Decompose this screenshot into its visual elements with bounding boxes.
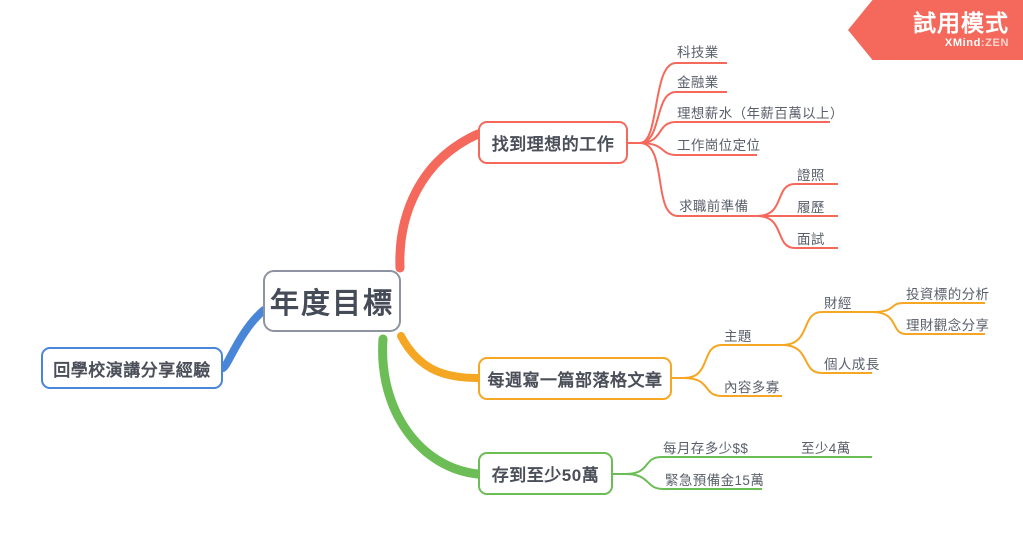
wire-blog-to-topic xyxy=(672,345,782,378)
leaf-salary[interactable]: 理想薪水（年薪百萬以上） xyxy=(677,102,844,122)
leaf-monthly-saving-label: 每月存多少$$ xyxy=(663,441,748,456)
leaf-resume-label: 履歷 xyxy=(797,200,825,215)
leaf-content-length[interactable]: 內容多寡 xyxy=(724,376,780,396)
leaf-resume[interactable]: 履歷 xyxy=(797,196,825,216)
leaf-personal-growth[interactable]: 個人成長 xyxy=(824,353,880,373)
root-node-label: 年度目標 xyxy=(270,280,394,322)
brand-name: XMind xyxy=(945,37,981,49)
leaf-topic[interactable]: 主題 xyxy=(724,325,752,345)
leaf-position-label: 工作崗位定位 xyxy=(677,138,760,153)
branch-node-saving[interactable]: 存到至少50萬 xyxy=(478,452,613,495)
leaf-emergency-fund[interactable]: 緊急預備金15萬 xyxy=(665,469,764,489)
leaf-cert-label: 證照 xyxy=(797,168,825,183)
leaf-personal-growth-label: 個人成長 xyxy=(824,357,880,372)
leaf-tech[interactable]: 科技業 xyxy=(677,41,719,61)
wire-finance-to-analysis xyxy=(872,303,985,312)
leaf-investment-analysis[interactable]: 投資標的分析 xyxy=(906,283,989,303)
branch-node-speech[interactable]: 回學校演講分享經驗 xyxy=(41,347,223,389)
wire-root-to-job xyxy=(400,134,478,268)
wire-root-to-blog xyxy=(401,336,478,378)
leaf-topic-label: 主題 xyxy=(724,329,752,344)
brand-logo: XMind:ZEN xyxy=(945,37,1009,49)
branch-node-speech-label: 回學校演講分享經驗 xyxy=(53,356,211,381)
root-node[interactable]: 年度目標 xyxy=(263,270,401,332)
leaf-interview[interactable]: 面試 xyxy=(797,228,825,248)
leaf-finance-industry-label: 金融業 xyxy=(677,75,719,90)
leaf-monthly-amount-label: 至少4萬 xyxy=(801,441,851,456)
leaf-finance-concepts-label: 理財觀念分享 xyxy=(906,318,989,333)
leaf-interview-label: 面試 xyxy=(797,232,825,247)
leaf-monthly-saving[interactable]: 每月存多少$$ xyxy=(663,437,748,457)
leaf-emergency-fund-label: 緊急預備金15萬 xyxy=(665,473,764,488)
branch-node-job-label: 找到理想的工作 xyxy=(492,130,615,155)
leaf-position[interactable]: 工作崗位定位 xyxy=(677,134,760,154)
leaf-salary-label: 理想薪水（年薪百萬以上） xyxy=(677,106,844,121)
trial-mode-title: 試用模式 xyxy=(913,11,1009,35)
mindmap-canvas[interactable]: 年度目標 找到理想的工作 每週寫一篇部落格文章 存到至少50萬 回學校演講分享經… xyxy=(0,0,1023,538)
leaf-prep[interactable]: 求職前準備 xyxy=(679,195,749,215)
brand-suffix: :ZEN xyxy=(981,37,1009,49)
wire-root-to-speech xyxy=(223,310,264,368)
trial-mode-badge[interactable]: 試用模式 XMind:ZEN xyxy=(848,0,1023,60)
branch-node-blog-label: 每週寫一篇部落格文章 xyxy=(488,366,663,391)
branch-node-blog[interactable]: 每週寫一篇部落格文章 xyxy=(478,357,672,400)
leaf-content-length-label: 內容多寡 xyxy=(724,380,780,395)
leaf-prep-label: 求職前準備 xyxy=(679,199,749,214)
leaf-finance-topic-label: 財經 xyxy=(824,296,852,311)
wire-topic-to-finance xyxy=(782,312,872,345)
leaf-tech-label: 科技業 xyxy=(677,45,719,60)
leaf-cert[interactable]: 證照 xyxy=(797,164,825,184)
branch-node-saving-label: 存到至少50萬 xyxy=(492,461,599,486)
wire-root-to-saving xyxy=(383,339,478,474)
branch-node-job[interactable]: 找到理想的工作 xyxy=(478,121,628,164)
leaf-monthly-amount[interactable]: 至少4萬 xyxy=(801,437,851,457)
leaf-finance-industry[interactable]: 金融業 xyxy=(677,71,719,91)
leaf-finance-concepts[interactable]: 理財觀念分享 xyxy=(906,314,989,334)
leaf-finance-topic[interactable]: 財經 xyxy=(824,292,852,312)
leaf-investment-analysis-label: 投資標的分析 xyxy=(906,287,989,302)
